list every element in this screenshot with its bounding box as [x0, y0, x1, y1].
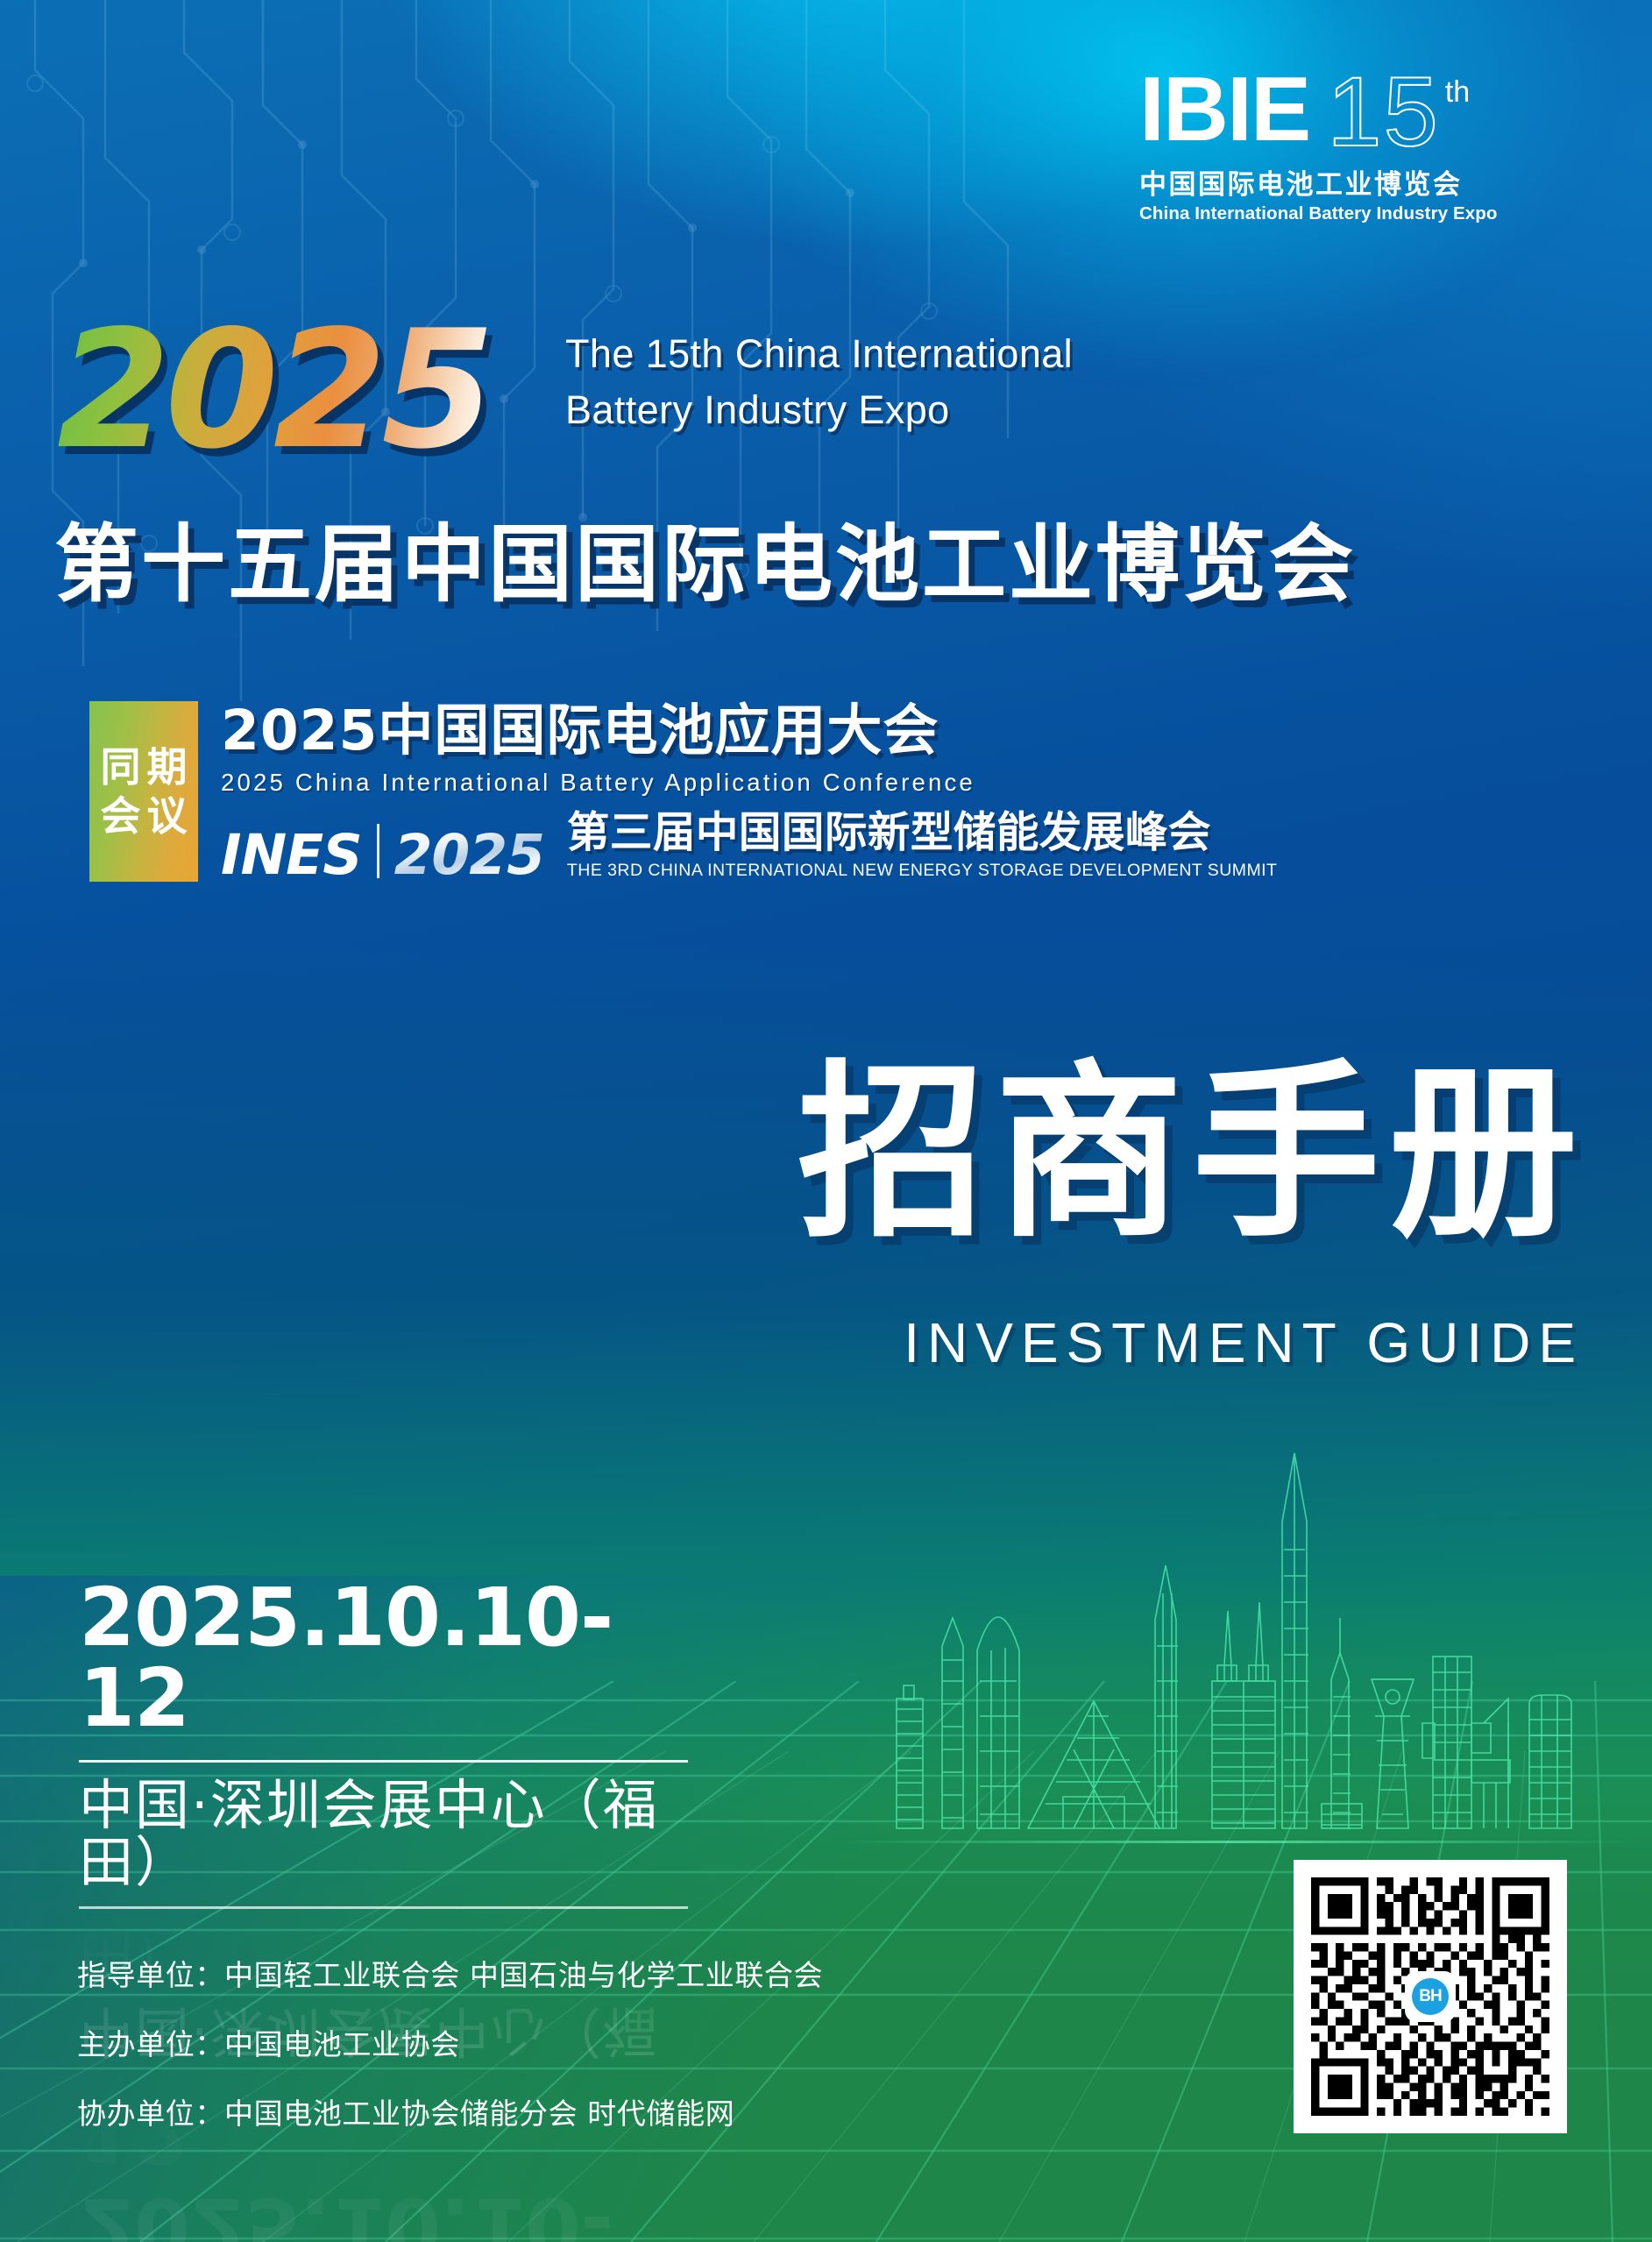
ines-year: 2025 [394, 830, 544, 881]
summit-text-block: 第三届中国国际新型储能发展峰会 THE 3RD CHINA INTERNATIO… [567, 811, 1277, 881]
organizer-line-guidance: 指导单位：中国轻工业联合会 中国石油与化学工业联合会 [77, 1961, 823, 1990]
ibie-logo: IBIE 15 th 中国国际电池工业博览会 China Internation… [1139, 68, 1613, 226]
summit-title-cn: 第三届中国国际新型储能发展峰会 [567, 811, 1277, 855]
ibie-name-cn: 中国国际电池工业博览会 [1139, 162, 1613, 202]
event-date-venue-block: 2025.10.10-12 中国·深圳会展中心（福田） 中国·深圳会展中心（福田… [79, 1578, 719, 2242]
event-date: 2025.10.10-12 [79, 1578, 719, 1739]
page-subtitle-en: INVESTMENT GUIDE [904, 1310, 1584, 1375]
qr-center-logo-mark: BH [1412, 1978, 1449, 2015]
ibie-edition-suffix: th [1445, 75, 1470, 110]
event-venue: 中国·深圳会展中心（福田） [79, 1777, 719, 1891]
ines-summit-row: INES 2025 第三届中国国际新型储能发展峰会 THE 3RD CHINA … [221, 811, 1277, 881]
concurrent-details: 2025中国国际电池应用大会 2025 China International … [221, 701, 1277, 882]
battery-application-conference-en: 2025 China International Battery Applica… [221, 769, 1277, 797]
concurrent-badge-line1: 同期 [95, 747, 194, 787]
organizer-line-coorganizer: 协办单位：中国电池工业协会储能分会 时代储能网 [77, 2099, 823, 2128]
poster-root: IBIE 15 th 中国国际电池工业博览会 China Internation… [0, 0, 1652, 2242]
battery-application-conference-cn: 2025中国国际电池应用大会 [221, 702, 1277, 761]
organizer-line-host: 主办单位：中国电池工业协会 [77, 2030, 823, 2059]
year-2025: 2025 [57, 309, 490, 472]
expo-title-en: The 15th China International Battery Ind… [565, 326, 1073, 438]
ibie-name-en: China International Battery Industry Exp… [1139, 203, 1613, 224]
qr-center-logo: BH [1407, 1973, 1454, 2020]
venue-divider [79, 1906, 688, 1909]
qr-code-image[interactable]: BH [1311, 1877, 1549, 2116]
page-title: 招商手册 [798, 1059, 1586, 1247]
expo-title-en-line1: The 15th China International [565, 326, 1073, 382]
date-divider [79, 1760, 688, 1763]
ines-wordmark: INES [221, 830, 362, 881]
expo-title-en-line2: Battery Industry Expo [565, 382, 1073, 438]
concurrent-badge: 同期 会议 [89, 701, 198, 882]
summit-title-en: THE 3RD CHINA INTERNATIONAL NEW ENERGY S… [567, 861, 1277, 881]
expo-title-cn: 第十五届中国国际电池工业博览会 [54, 496, 1356, 618]
ines-divider [377, 824, 379, 878]
ibie-edition-number: 15 [1327, 68, 1440, 157]
year-block: 2025 [57, 309, 490, 472]
concurrent-conference-block: 同期 会议 2025中国国际电池应用大会 2025 China Internat… [89, 701, 1277, 882]
ibie-wordmark: IBIE [1139, 68, 1309, 153]
concurrent-badge-line2: 会议 [95, 796, 194, 836]
ibie-logo-row: IBIE 15 th [1139, 68, 1613, 157]
qr-code-card[interactable]: BH [1294, 1860, 1567, 2133]
organizer-list: 指导单位：中国轻工业联合会 中国石油与化学工业联合会 主办单位：中国电池工业协会… [77, 1961, 823, 2128]
